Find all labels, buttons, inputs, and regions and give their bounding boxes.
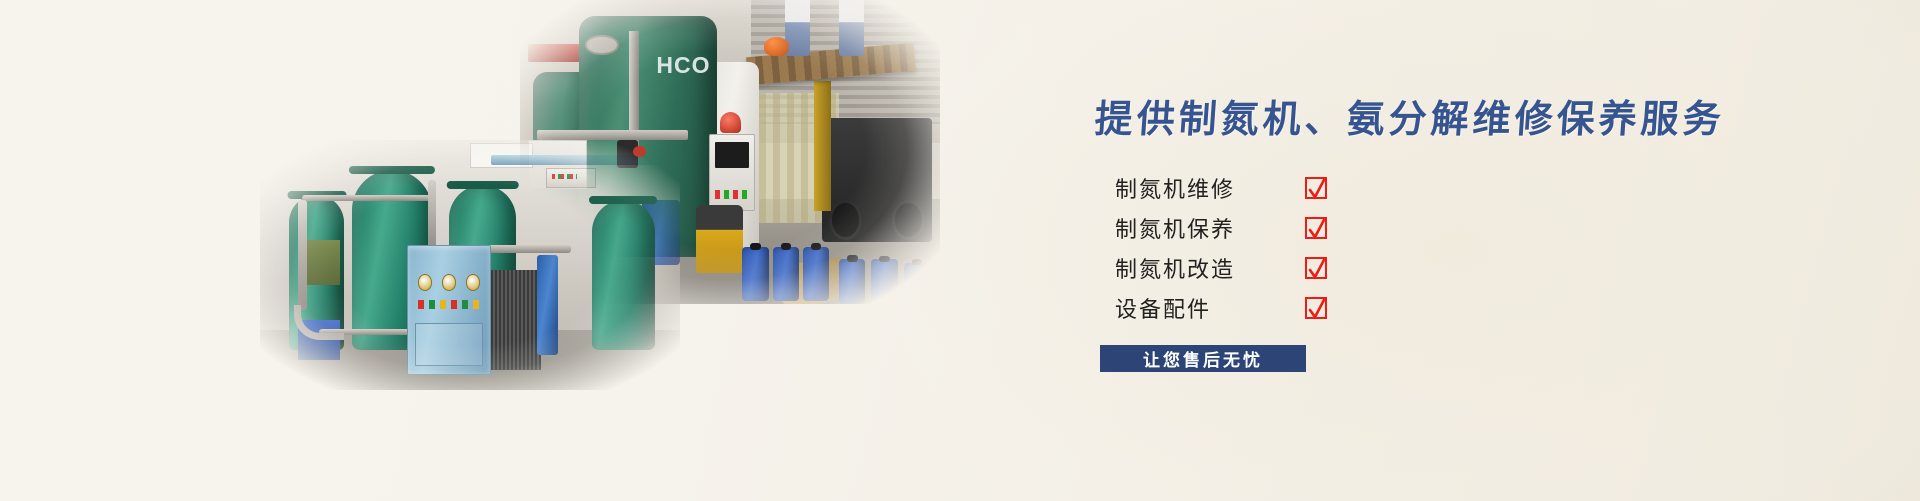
vessel-cap xyxy=(349,166,435,174)
control-panel xyxy=(709,134,755,212)
filter-housing xyxy=(537,255,558,355)
blue-drum xyxy=(803,247,829,301)
service-label: 制氮机维修 xyxy=(1115,172,1305,204)
vessel-cap xyxy=(589,196,657,204)
service-item-parts: 设备配件 xyxy=(1115,288,1445,328)
service-item-retrofit: 制氮机改造 xyxy=(1115,248,1445,288)
tank-flange xyxy=(587,37,616,53)
pipe xyxy=(298,200,307,310)
heat-exchanger xyxy=(491,270,541,370)
worker xyxy=(839,0,864,56)
service-label: 制氮机改造 xyxy=(1115,252,1305,284)
green-equipment-box xyxy=(302,240,340,285)
checkbox-checked-icon xyxy=(1305,297,1327,319)
blue-drum xyxy=(839,259,865,304)
service-banner: HCO xyxy=(0,0,1920,501)
blue-drum xyxy=(904,263,930,304)
overhead-beam xyxy=(491,155,676,165)
orange-funnel xyxy=(764,37,789,56)
checkbox-checked-icon xyxy=(1305,257,1327,279)
alarm-beacon xyxy=(720,112,741,134)
control-cabinet xyxy=(407,245,491,375)
blue-drum-group xyxy=(738,230,940,304)
banner-content: 提供制氮机、氨分解维修保养服务 制氮机维修 制氮机保养 xyxy=(1085,0,1705,501)
blue-drum xyxy=(871,259,897,302)
equipment-logo: HCO xyxy=(656,52,710,79)
cta-label: 让您售后无忧 xyxy=(1143,346,1263,371)
photo-nitrogen-skid-scene xyxy=(260,140,680,390)
checkbox-checked-icon xyxy=(1305,177,1327,199)
service-label: 制氮机保养 xyxy=(1115,212,1305,244)
banner-headline: 提供制氮机、氨分解维修保养服务 xyxy=(1093,88,1727,143)
blue-drum xyxy=(773,247,799,301)
pressure-gauges xyxy=(418,274,480,291)
pressure-vessel xyxy=(592,200,655,350)
service-item-repair: 制氮机维修 xyxy=(1115,168,1445,208)
forklift xyxy=(822,118,931,242)
horizontal-pipe xyxy=(537,130,688,139)
pipe xyxy=(302,195,436,201)
cta-button[interactable]: 让您售后无忧 xyxy=(1100,345,1306,372)
panel-display xyxy=(715,142,749,168)
photo-nitrogen-skid xyxy=(260,140,680,390)
panel-buttons xyxy=(715,190,749,199)
vessel-cap xyxy=(446,181,519,189)
service-item-maintenance: 制氮机保养 xyxy=(1115,208,1445,248)
checkbox-checked-icon xyxy=(1305,217,1327,239)
wall-control-box xyxy=(546,168,596,188)
cabinet-door xyxy=(415,323,484,367)
photo-collage: HCO xyxy=(0,0,1000,501)
pipe xyxy=(428,180,436,255)
blue-drum xyxy=(742,247,768,301)
indicator-lamps xyxy=(418,300,480,309)
forklift-mast xyxy=(814,81,831,211)
industrial-vacuum xyxy=(696,205,742,273)
service-list: 制氮机维修 制氮机保养 制氮机改造 xyxy=(1115,168,1445,328)
service-label: 设备配件 xyxy=(1115,292,1305,324)
